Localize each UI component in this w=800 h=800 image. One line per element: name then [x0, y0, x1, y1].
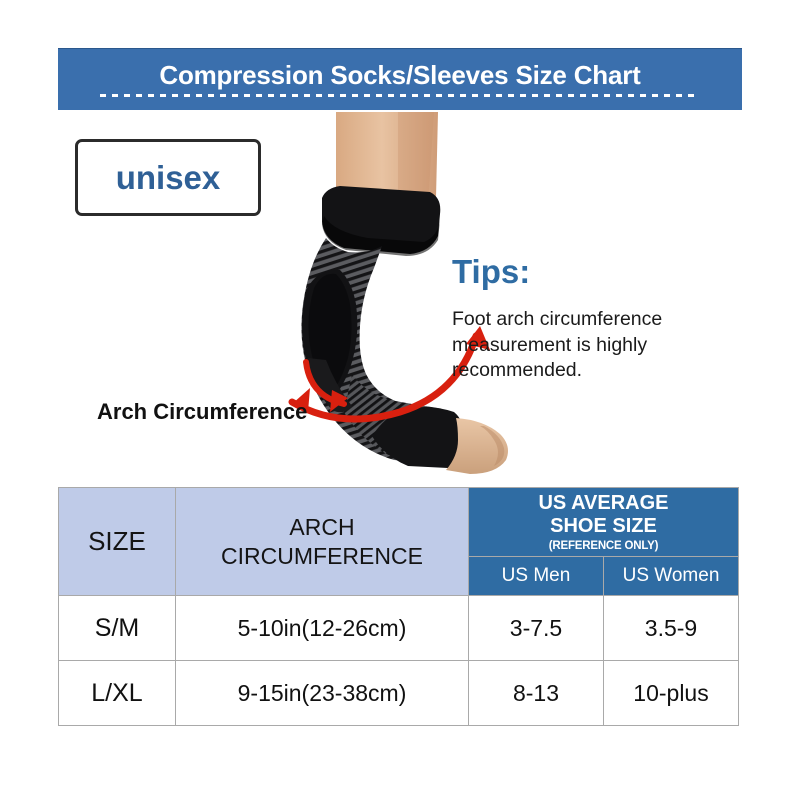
column-header-us-men: US Men	[469, 557, 604, 596]
column-header-us-women: US Women	[604, 557, 739, 596]
foot-compression-sleeve-illustration	[248, 112, 516, 490]
column-header-arch-line1: ARCH	[176, 513, 468, 541]
cell-size: S/M	[59, 596, 176, 661]
cell-us-men: 3-7.5	[469, 596, 604, 661]
cell-us-women: 10-plus	[604, 661, 739, 726]
cell-us-women: 3.5-9	[604, 596, 739, 661]
column-header-us-average-shoe-size: US AVERAGE SHOE SIZE (REFERENCE ONLY)	[469, 488, 739, 557]
size-chart-page: Compression Socks/Sleeves Size Chart uni…	[0, 0, 800, 800]
us-shoe-size-reference-note: (REFERENCE ONLY)	[469, 540, 738, 552]
column-header-size: SIZE	[59, 488, 176, 596]
unisex-badge: unisex	[75, 139, 261, 216]
tips-body: Foot arch circumference measurement is h…	[452, 307, 738, 384]
tips-heading: Tips:	[452, 255, 530, 288]
table-row: L/XL 9-15in(23-38cm) 8-13 10-plus	[59, 661, 739, 726]
page-title: Compression Socks/Sleeves Size Chart	[159, 62, 640, 88]
column-header-arch-line2: CIRCUMFERENCE	[176, 542, 468, 570]
us-shoe-size-line2: SHOE SIZE	[469, 515, 738, 538]
table-head: SIZE ARCH CIRCUMFERENCE US AVERAGE SHOE …	[59, 488, 739, 596]
cell-size: L/XL	[59, 661, 176, 726]
banner-dotted-rule	[100, 94, 700, 97]
us-shoe-size-line1: US AVERAGE	[469, 492, 738, 515]
title-banner: Compression Socks/Sleeves Size Chart	[58, 48, 742, 110]
cell-arch-circumference: 5-10in(12-26cm)	[176, 596, 469, 661]
table-body: S/M 5-10in(12-26cm) 3-7.5 3.5-9 L/XL 9-1…	[59, 596, 739, 726]
sleeve-cuff	[322, 186, 440, 256]
table-header-row-main: SIZE ARCH CIRCUMFERENCE US AVERAGE SHOE …	[59, 488, 739, 557]
unisex-label: unisex	[116, 161, 221, 194]
cell-us-men: 8-13	[469, 661, 604, 726]
table-row: S/M 5-10in(12-26cm) 3-7.5 3.5-9	[59, 596, 739, 661]
arch-circumference-callout-label: Arch Circumference	[97, 398, 327, 426]
cell-arch-circumference: 9-15in(23-38cm)	[176, 661, 469, 726]
column-header-arch-circumference: ARCH CIRCUMFERENCE	[176, 488, 469, 596]
size-chart-table: SIZE ARCH CIRCUMFERENCE US AVERAGE SHOE …	[58, 487, 739, 726]
